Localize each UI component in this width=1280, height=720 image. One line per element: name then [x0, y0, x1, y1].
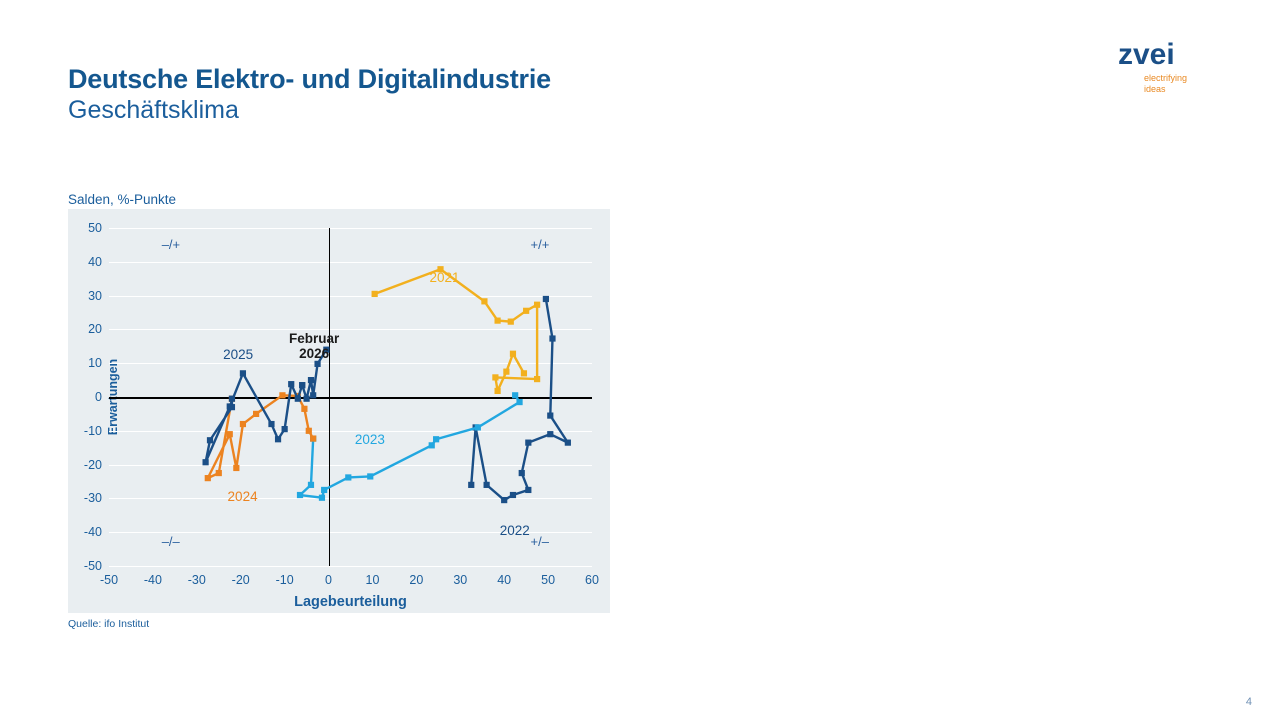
plot-area: Erwartungen Lagebeurteilung 50403020100-…: [109, 228, 592, 566]
data-point: [523, 308, 529, 314]
x-axis-tick: 50: [541, 573, 555, 587]
data-point: [240, 421, 246, 427]
data-point: [481, 298, 487, 304]
series-label-2024: 2024: [228, 489, 258, 504]
series-lines: [109, 228, 592, 566]
data-point: [303, 396, 309, 402]
zvei-logo: zvei electrifying ideas: [1118, 40, 1238, 94]
series-label-2022: 2022: [500, 523, 530, 538]
data-point: [433, 436, 439, 442]
chart-frame: Erwartungen Lagebeurteilung 50403020100-…: [68, 209, 610, 613]
series-2021: [372, 266, 541, 394]
data-point: [319, 495, 325, 501]
series-line: [206, 373, 303, 462]
data-point: [429, 442, 435, 448]
data-point: [314, 361, 320, 367]
data-point: [503, 369, 509, 375]
x-axis-tick: -50: [100, 573, 118, 587]
x-axis-tick: 60: [585, 573, 599, 587]
data-point: [475, 424, 481, 430]
gridline: [109, 566, 592, 567]
logo-tagline: electrifying ideas: [1144, 73, 1238, 94]
unit-caption: Salden, %-Punkte: [68, 192, 176, 207]
annotation-line-2: 2026: [289, 346, 339, 361]
data-point: [227, 403, 233, 409]
data-point: [468, 482, 474, 488]
x-axis-tick: -10: [276, 573, 294, 587]
data-point: [484, 482, 490, 488]
data-point: [547, 412, 553, 418]
data-point: [310, 435, 316, 441]
data-point: [295, 396, 301, 402]
data-point: [534, 302, 540, 308]
data-point: [512, 392, 518, 398]
data-point: [275, 436, 281, 442]
data-point: [565, 440, 571, 446]
data-point: [229, 396, 235, 402]
y-axis-tick: 20: [88, 322, 102, 336]
series-2025: [203, 370, 306, 465]
data-point: [253, 411, 259, 417]
data-point: [301, 406, 307, 412]
series-line: [208, 395, 313, 478]
x-axis-tick: -20: [232, 573, 250, 587]
data-point: [227, 431, 233, 437]
data-point: [492, 374, 498, 380]
quadrant-label-bottom-left: –/–: [162, 534, 180, 549]
data-point: [205, 475, 211, 481]
y-axis-tick: -50: [84, 559, 102, 573]
x-axis-tick: 0: [325, 573, 332, 587]
data-point: [216, 470, 222, 476]
x-axis-tick: -30: [188, 573, 206, 587]
data-point: [233, 465, 239, 471]
data-point: [494, 388, 500, 394]
source-note: Quelle: ifo Institut: [68, 618, 149, 630]
data-point: [543, 296, 549, 302]
data-point: [525, 487, 531, 493]
quadrant-label-bottom-right: +/–: [531, 534, 549, 549]
y-axis-tick: 50: [88, 221, 102, 235]
data-point: [549, 335, 555, 341]
y-axis-tick: -30: [84, 491, 102, 505]
data-point: [308, 482, 314, 488]
y-axis-tick: 0: [95, 390, 102, 404]
quadrant-label-top-right: +/+: [531, 237, 550, 252]
page-title: Deutsche Elektro- und Digitalindustrie: [68, 64, 551, 94]
x-axis-tick: 20: [409, 573, 423, 587]
data-point: [547, 431, 553, 437]
series-line: [375, 269, 537, 391]
series-label-2021: 2021: [430, 270, 460, 285]
data-point: [297, 492, 303, 498]
x-axis-title: Lagebeurteilung: [109, 594, 592, 610]
data-point: [310, 392, 316, 398]
y-axis-tick: -10: [84, 424, 102, 438]
data-point: [288, 381, 294, 387]
annotation-februar-2026: Februar2026: [289, 331, 339, 361]
data-point: [207, 437, 213, 443]
data-point: [372, 291, 378, 297]
data-point: [534, 376, 540, 382]
data-point: [494, 318, 500, 324]
series-label-2023: 2023: [355, 432, 385, 447]
logo-tagline-line2: ideas: [1144, 84, 1238, 95]
data-point: [299, 382, 305, 388]
data-point: [501, 497, 507, 503]
data-point: [282, 426, 288, 432]
annotation-line-1: Februar: [289, 331, 339, 346]
page-number: 4: [1246, 696, 1252, 708]
page-subtitle: Geschäftsklima: [68, 96, 551, 125]
x-axis-tick: 10: [366, 573, 380, 587]
data-point: [521, 370, 527, 376]
data-point: [240, 370, 246, 376]
data-point: [510, 492, 516, 498]
data-point: [508, 319, 514, 325]
slide: Deutsche Elektro- und Digitalindustrie G…: [0, 0, 1280, 720]
quadrant-label-top-left: –/+: [162, 237, 180, 252]
y-axis-tick: -20: [84, 458, 102, 472]
data-point: [321, 487, 327, 493]
data-point: [345, 474, 351, 480]
data-point: [519, 470, 525, 476]
data-point: [367, 473, 373, 479]
data-point: [279, 392, 285, 398]
data-point: [516, 399, 522, 405]
series-label-2025: 2025: [223, 347, 253, 362]
data-point: [525, 440, 531, 446]
data-point: [203, 459, 209, 465]
y-axis-tick: -40: [84, 525, 102, 539]
y-axis-tick: 10: [88, 356, 102, 370]
y-axis-tick: 30: [88, 289, 102, 303]
logo-tagline-line1: electrifying: [1144, 73, 1238, 84]
data-point: [308, 377, 314, 383]
data-point: [268, 421, 274, 427]
y-axis-tick: 40: [88, 255, 102, 269]
x-axis-tick: -40: [144, 573, 162, 587]
logo-wordmark: zvei: [1118, 40, 1238, 70]
title-block: Deutsche Elektro- und Digitalindustrie G…: [68, 64, 551, 125]
x-axis-tick: 40: [497, 573, 511, 587]
data-point: [306, 428, 312, 434]
data-point: [510, 351, 516, 357]
x-axis-tick: 30: [453, 573, 467, 587]
